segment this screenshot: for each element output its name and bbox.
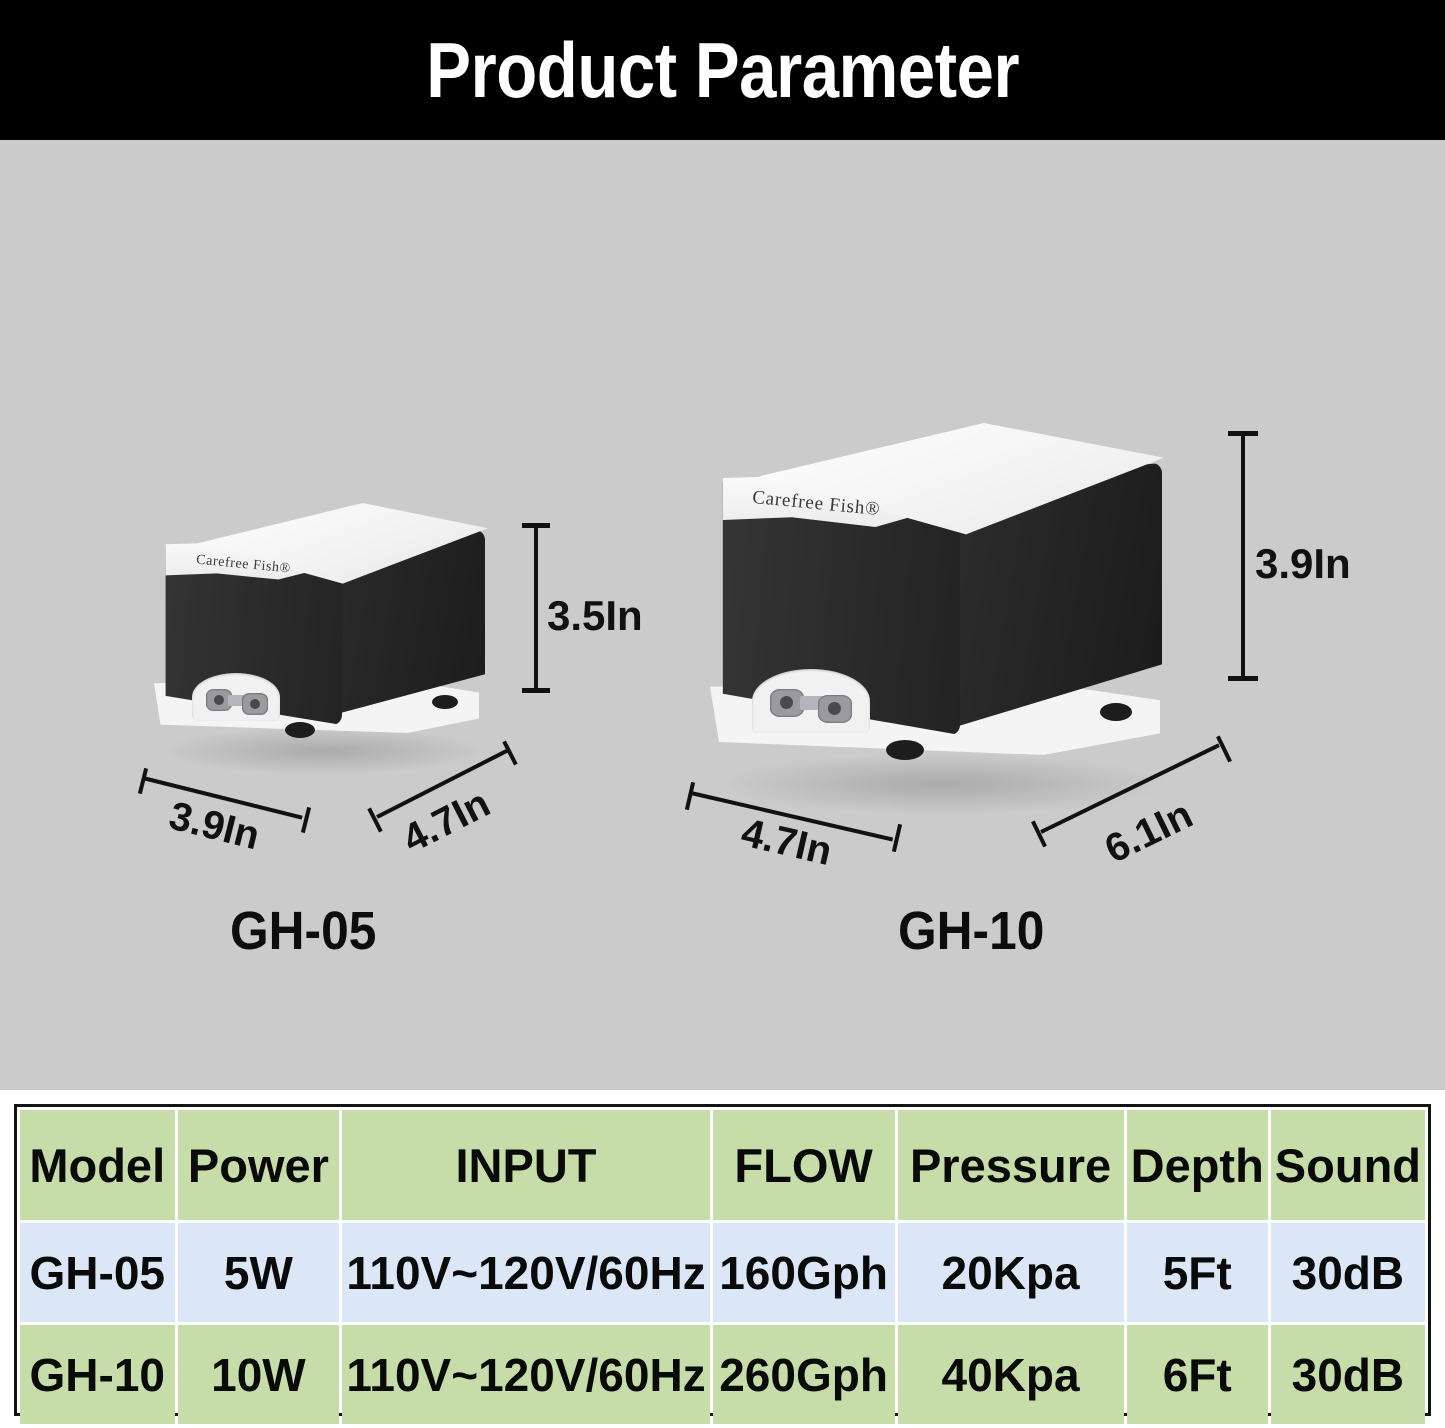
gh05-height-line [534, 523, 538, 693]
product-gh10: Carefree Fish® [690, 415, 1230, 815]
column-header-flow: FLOW [713, 1110, 895, 1220]
gh05-depth-tick-start [367, 808, 382, 833]
column-header-power: Power [178, 1110, 340, 1220]
gh10-foot-front [886, 740, 924, 760]
product-parameter-page: Product Parameter Carefree Fish® [0, 0, 1445, 1428]
gh05-foot-front [285, 722, 315, 738]
gh05-model-caption: GH-05 [230, 900, 376, 962]
cell-sound: 30dB [1271, 1223, 1425, 1322]
spec-table: Model Power INPUT FLOW Pressure Depth So… [17, 1107, 1428, 1427]
gh10-ground-shadow [714, 753, 1169, 815]
gh05-width-tick-end [301, 807, 311, 833]
table-row: GH-05 5W 110V~120V/60Hz 160Gph 20Kpa 5Ft… [20, 1223, 1425, 1322]
column-header-sound: Sound [1271, 1110, 1425, 1220]
column-header-input: INPUT [342, 1110, 709, 1220]
gh05-height-label: 3.5In [547, 592, 643, 640]
cell-power: 10W [178, 1325, 340, 1424]
gh10-height-label: 3.9In [1255, 540, 1351, 588]
gh05-depth-label: 4.7In [396, 781, 498, 862]
gh10-outlet-hole-right [828, 702, 841, 715]
cell-input: 110V~120V/60Hz [342, 1223, 709, 1322]
cell-pressure: 20Kpa [898, 1223, 1124, 1322]
gh10-height-line [1241, 431, 1245, 681]
gh10-outlet-hole-left [780, 696, 793, 709]
cell-input: 110V~120V/60Hz [342, 1325, 709, 1424]
gh10-width-tick-end [892, 824, 902, 852]
column-header-depth: Depth [1127, 1110, 1268, 1220]
cell-model: GH-10 [20, 1325, 175, 1424]
header-banner: Product Parameter [0, 0, 1445, 140]
spec-table-wrapper: Model Power INPUT FLOW Pressure Depth So… [14, 1104, 1431, 1416]
gh05-height-cap-bottom [522, 688, 550, 693]
product-showcase-stage: Carefree Fish® 3.5In 3.9In [0, 140, 1445, 1090]
cell-depth: 6Ft [1127, 1325, 1268, 1424]
cell-power: 5W [178, 1223, 340, 1322]
cell-pressure: 40Kpa [898, 1325, 1124, 1424]
gh05-foot-right [432, 695, 458, 709]
cell-model: GH-05 [20, 1223, 175, 1322]
product-gh05: Carefree Fish® [140, 495, 560, 785]
gh10-depth-tick-start [1031, 821, 1047, 848]
gh05-outlet-hole-right [250, 699, 260, 709]
gh10-foot-right [1100, 703, 1132, 721]
column-header-pressure: Pressure [898, 1110, 1124, 1220]
table-row: GH-10 10W 110V~120V/60Hz 260Gph 40Kpa 6F… [20, 1325, 1425, 1424]
gh10-height-cap-bottom [1228, 676, 1258, 681]
cell-depth: 5Ft [1127, 1223, 1268, 1322]
gh10-model-caption: GH-10 [898, 900, 1044, 962]
column-header-model: Model [20, 1110, 175, 1220]
gh05-ground-shadow [158, 727, 488, 775]
cell-flow: 260Gph [713, 1325, 895, 1424]
cell-flow: 160Gph [713, 1223, 895, 1322]
gh05-outlet-hole-left [214, 695, 224, 705]
cell-sound: 30dB [1271, 1325, 1425, 1424]
page-title: Product Parameter [426, 31, 1019, 109]
spec-table-header-row: Model Power INPUT FLOW Pressure Depth So… [20, 1110, 1425, 1220]
